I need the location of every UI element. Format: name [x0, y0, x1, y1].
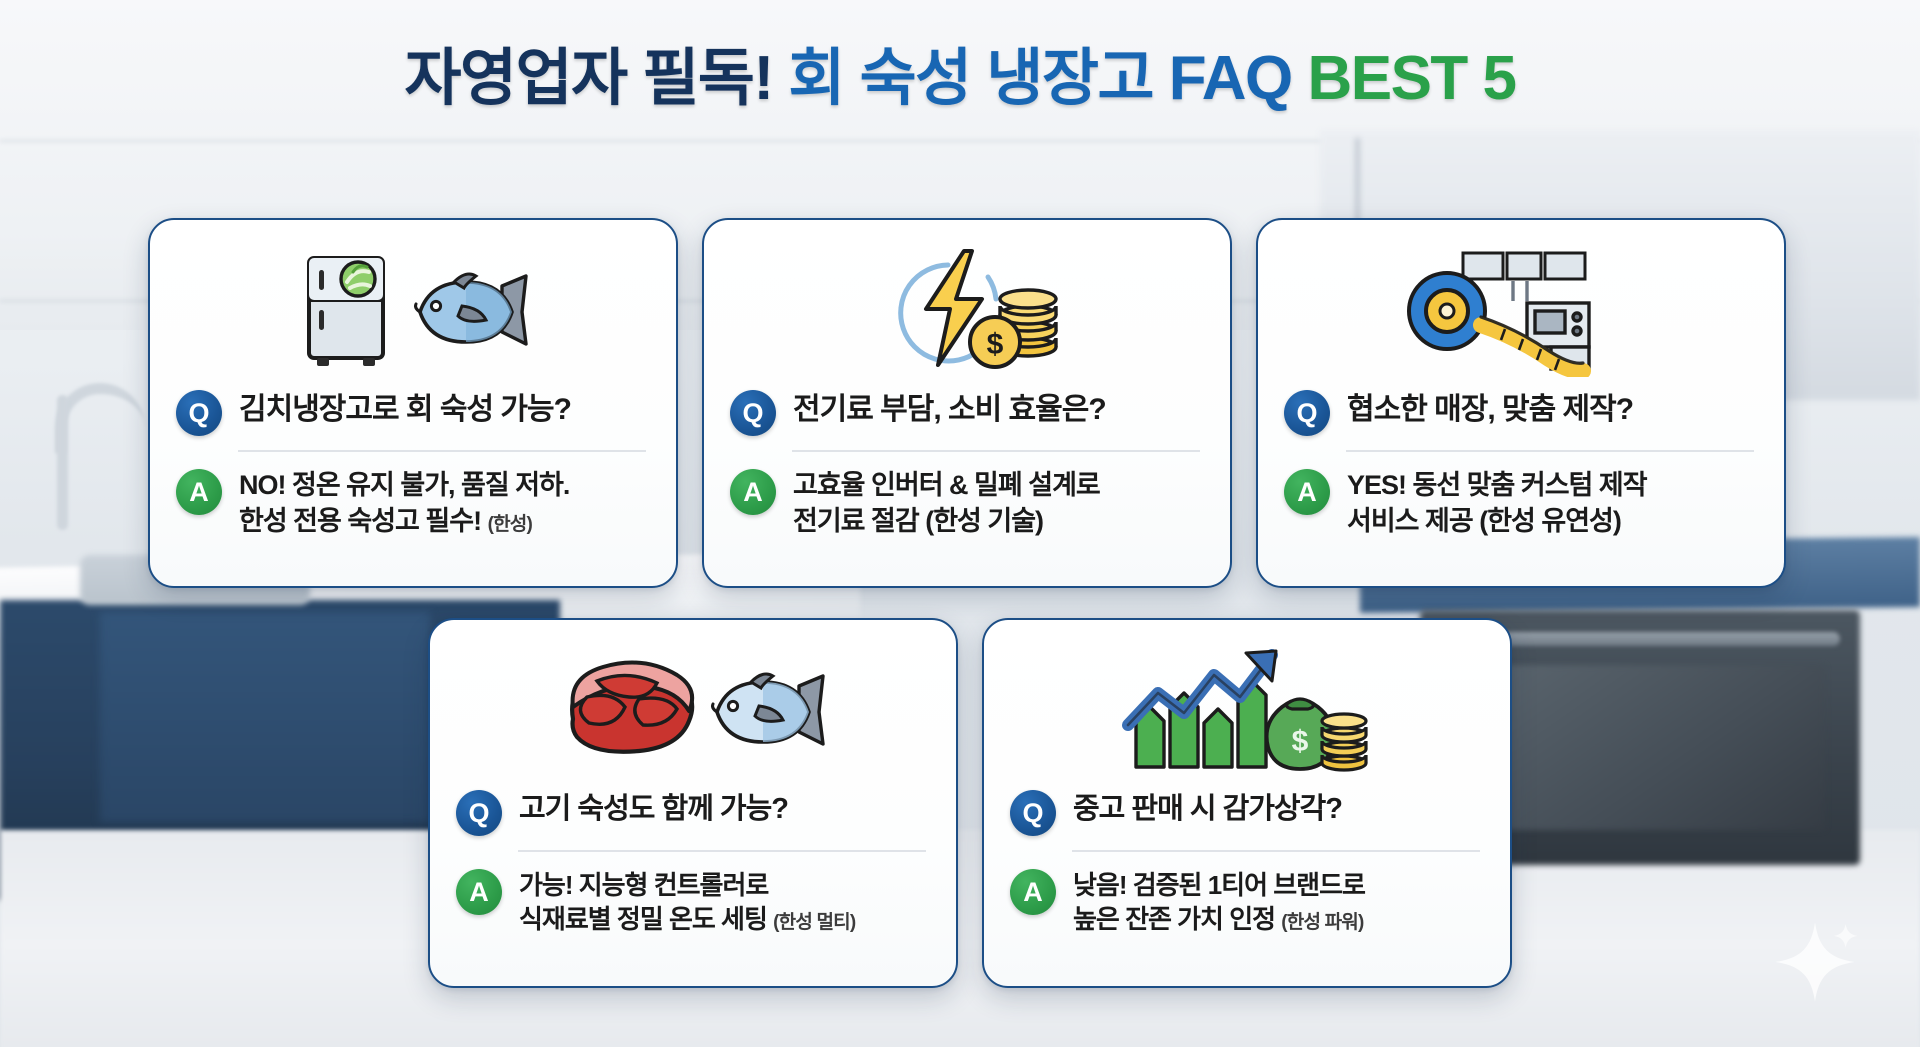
answer-row: A 고효율 인버터 & 밀폐 설계로 전기료 절감 (한성 기술)	[730, 452, 1204, 539]
answer-text: 낮음! 검증된 1티어 브랜드로 높은 잔존 가치 인정 (한성 파워)	[1073, 867, 1365, 937]
question-row: Q 중고 판매 시 감가상각?	[1010, 788, 1484, 850]
answer-note: (한성)	[488, 514, 532, 535]
q-badge: Q	[456, 790, 502, 836]
sparkle-icon	[1770, 917, 1860, 1007]
answer-line-1: NO! 정온 유지 불가, 품질 저하.	[239, 470, 569, 500]
growth-chart-and-money-icon: $	[1010, 642, 1484, 782]
answer-line-2: 한성 전용 숙성고 필수!	[239, 506, 481, 536]
faq-card-1[interactable]: Q 김치냉장고로 회 숙성 가능? A NO! 정온 유지 불가, 품질 저하.…	[148, 218, 678, 588]
measuring-tape-and-kitchen-icon	[1284, 242, 1758, 382]
answer-row: A NO! 정온 유지 불가, 품질 저하. 한성 전용 숙성고 필수! (한성…	[176, 452, 650, 539]
answer-line-1: 가능! 지능형 컨트롤러로	[519, 870, 768, 900]
answer-note: (한성 멀티)	[773, 912, 855, 933]
faq-card-3[interactable]: Q 협소한 매장, 맞춤 제작? A YES! 동선 맞춤 커스텀 제작 서비스…	[1256, 218, 1786, 588]
answer-line-2: 서비스 제공 (한성 유연성)	[1347, 506, 1621, 536]
answer-row: A 가능! 지능형 컨트롤러로 식재료별 정밀 온도 세팅 (한성 멀티)	[456, 852, 930, 937]
question-row: Q 고기 숙성도 함께 가능?	[456, 788, 930, 850]
question-text: 김치냉장고로 회 숙성 가능?	[239, 388, 571, 427]
q-badge: Q	[1284, 390, 1330, 436]
a-badge: A	[730, 469, 776, 515]
faq-card-2[interactable]: $ Q 전기료 부담, 소비 효율은? A 고효율 인버터 & 밀폐 설계로 전…	[702, 218, 1232, 588]
answer-line-2: 식재료별 정밀 온도 세팅	[519, 904, 767, 934]
question-text: 협소한 매장, 맞춤 제작?	[1347, 388, 1633, 427]
a-badge: A	[1010, 869, 1056, 915]
question-text: 중고 판매 시 감가상각?	[1073, 788, 1342, 826]
answer-text: 가능! 지능형 컨트롤러로 식재료별 정밀 온도 세팅 (한성 멀티)	[519, 867, 855, 937]
svg-text:$: $	[987, 328, 1004, 361]
a-badge: A	[176, 469, 222, 515]
answer-line-1: 고효율 인버터 & 밀폐 설계로	[793, 470, 1100, 500]
answer-line-2: 높은 잔존 가치 인정	[1073, 904, 1275, 934]
question-text: 고기 숙성도 함께 가능?	[519, 788, 788, 826]
title-part-blue: 회 숙성 냉장고 FAQ	[788, 44, 1291, 113]
a-badge: A	[456, 869, 502, 915]
question-row: Q 협소한 매장, 맞춤 제작?	[1284, 388, 1758, 450]
lightning-bolt-and-coins-icon: $	[730, 242, 1204, 382]
question-row: Q 전기료 부담, 소비 효율은?	[730, 388, 1204, 450]
answer-text: 고효율 인버터 & 밀폐 설계로 전기료 절감 (한성 기술)	[793, 467, 1100, 539]
answer-text: YES! 동선 맞춤 커스텀 제작 서비스 제공 (한성 유연성)	[1347, 467, 1647, 539]
q-badge: Q	[176, 390, 222, 436]
q-badge: Q	[730, 390, 776, 436]
answer-line-2: 전기료 절감 (한성 기술)	[793, 506, 1043, 536]
question-text: 전기료 부담, 소비 효율은?	[793, 388, 1106, 427]
refrigerator-and-fish-icon	[176, 242, 650, 382]
page-title: 자영업자 필독! 회 숙성 냉장고 FAQ BEST 5	[0, 48, 1920, 110]
answer-row: A YES! 동선 맞춤 커스텀 제작 서비스 제공 (한성 유연성)	[1284, 452, 1758, 539]
answer-line-1: YES! 동선 맞춤 커스텀 제작	[1347, 470, 1647, 500]
title-part-green: BEST 5	[1307, 44, 1515, 113]
svg-text:$: $	[1292, 725, 1309, 758]
faq-card-4[interactable]: Q 고기 숙성도 함께 가능? A 가능! 지능형 컨트롤러로 식재료별 정밀 …	[428, 618, 958, 988]
question-row: Q 김치냉장고로 회 숙성 가능?	[176, 388, 650, 450]
steak-and-fish-icon	[456, 642, 930, 782]
answer-text: NO! 정온 유지 불가, 품질 저하. 한성 전용 숙성고 필수! (한성)	[239, 467, 569, 539]
faq-card-5[interactable]: $ Q 중고 판매 시 감가상각? A	[982, 618, 1512, 988]
answer-note: (한성 파워)	[1281, 912, 1363, 933]
q-badge: Q	[1010, 790, 1056, 836]
answer-row: A 낮음! 검증된 1티어 브랜드로 높은 잔존 가치 인정 (한성 파워)	[1010, 852, 1484, 937]
a-badge: A	[1284, 469, 1330, 515]
answer-line-1: 낮음! 검증된 1티어 브랜드로	[1073, 870, 1365, 900]
title-part-navy: 자영업자 필독!	[404, 44, 772, 113]
